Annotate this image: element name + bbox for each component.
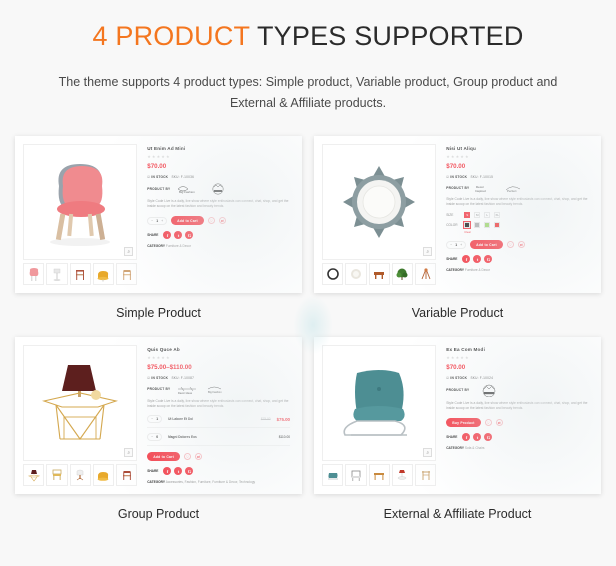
thumbnail-strip — [23, 263, 137, 285]
qty-value: 1 — [156, 219, 158, 223]
thumbnail-item[interactable] — [369, 263, 390, 285]
product-type-cell-external: ⌕ Ex Ea Com Modi ★★★★★ $70.00 ☑ — [314, 337, 601, 530]
brand-logo-icon: Big Fashion — [204, 384, 228, 395]
add-to-cart-row: − 1 + Add to Cart ♡ ⇄ — [147, 216, 290, 225]
googleplus-icon[interactable]: G — [484, 255, 492, 263]
rating-stars: ★★★★★ — [446, 355, 589, 360]
group-item-row: − 1 Ut Labore Et Dol $75.00 $75.00 — [147, 415, 290, 428]
product-name: Quis Quce Ab — [147, 347, 290, 352]
brand-logo-icon: Perfect — [503, 183, 527, 193]
sku-value: SKU: F-10036 — [171, 175, 194, 179]
brand-logo-icon: Big Fashion — [175, 183, 201, 194]
stock-label: IN STOCK — [151, 175, 168, 179]
clear-selection-link[interactable]: Clear — [464, 230, 589, 234]
wishlist-icon[interactable]: ♡ — [507, 241, 514, 248]
product-name: Ex Ea Com Modi — [446, 347, 589, 352]
product-type-cell-group: ⌕ Quis Quce Ab ★★★★★ $75.00–$110.00 — [15, 337, 302, 530]
product-price: $70.00 — [147, 163, 290, 170]
compare-icon[interactable]: ⇄ — [496, 419, 503, 426]
card-caption-variable: Variable Product — [412, 306, 504, 320]
rating-stars: ★★★★★ — [147, 355, 290, 360]
thumbnail-item[interactable] — [116, 464, 137, 486]
group-item-old-price: $75.00 — [261, 417, 271, 421]
screenshot-variable-product[interactable]: ⌕ Nisi Ut Aliqu ★★★★★ $70.00 ☑ — [314, 136, 601, 293]
add-to-cart-row: − 1 + Add to Cart ♡ ⇄ — [446, 240, 589, 249]
product-description: Style Code Live is a daily, live show wh… — [147, 199, 290, 211]
product-description: Style Code Live is a daily, live show wh… — [147, 399, 290, 411]
wishlist-icon[interactable]: ♡ — [184, 453, 191, 460]
twitter-icon[interactable]: t — [473, 433, 481, 441]
wishlist-icon[interactable]: ♡ — [485, 419, 492, 426]
category-label: CATEGORY — [446, 268, 464, 272]
qty-increase[interactable]: + — [161, 219, 163, 223]
category-label: CATEGORY — [147, 480, 165, 484]
facebook-icon[interactable]: f — [163, 231, 171, 239]
color-label: COLOR — [446, 223, 460, 227]
qty-value: 1 — [156, 417, 158, 421]
compare-icon[interactable]: ⇄ — [195, 453, 202, 460]
product-by-row: PRODUCT BY DecorInspired Perfect — [446, 183, 589, 193]
product-name: Nisi Ut Aliqu — [446, 146, 589, 151]
product-by-row: PRODUCT BY Big Fashion — [147, 183, 290, 195]
add-to-cart-button[interactable]: Add to Cart — [470, 240, 503, 249]
thumbnail-item[interactable] — [392, 464, 413, 486]
wishlist-icon[interactable]: ♡ — [208, 217, 215, 224]
qty-value: 0 — [156, 435, 158, 439]
share-row: SHARE f t G — [446, 255, 589, 263]
product-price: $70.00 — [446, 163, 589, 170]
category-label: CATEGORY — [446, 446, 464, 450]
category-row: CATEGORY Accessories, Fashion, Furniture… — [147, 480, 290, 484]
add-to-cart-button[interactable]: Add to Cart — [147, 452, 180, 461]
screenshot-simple-product[interactable]: ⌕ Ut Enim Ad Mini ★★★★★ $70.00 — [15, 136, 302, 293]
facebook-icon[interactable]: f — [163, 467, 171, 475]
share-row: SHARE f t G — [147, 467, 290, 475]
product-price: $70.00 — [446, 364, 589, 371]
qty-decrease[interactable]: − — [151, 435, 153, 439]
qty-decrease[interactable]: − — [151, 417, 153, 421]
color-swatch[interactable] — [494, 222, 500, 228]
product-description: Style Code Live is a daily, live show wh… — [446, 197, 589, 209]
stock-and-sku: ☑ IN STOCK SKU: F-10015 — [446, 175, 589, 179]
thumbnail-item[interactable] — [93, 464, 114, 486]
size-option[interactable]: XL — [494, 212, 500, 218]
thumbnail-item[interactable] — [392, 263, 413, 285]
rating-stars: ★★★★★ — [147, 154, 290, 159]
title-rest: TYPES SUPPORTED — [250, 21, 524, 51]
stock-label: IN STOCK — [450, 175, 467, 179]
add-to-cart-button[interactable]: Add to Cart — [171, 216, 204, 225]
product-info: Ut Enim Ad Mini ★★★★★ $70.00 ☑ IN STOCK … — [139, 142, 296, 287]
quantity-stepper[interactable]: − 1 + — [446, 241, 466, 249]
main-product-image[interactable]: ⌕ — [23, 144, 137, 260]
image-zoom-icon[interactable]: ⌕ — [423, 448, 432, 457]
twitter-icon[interactable]: t — [174, 467, 182, 475]
product-name: Ut Enim Ad Mini — [147, 146, 290, 151]
product-by-row: PRODUCT BY Decor Ideas Big Fashion — [147, 384, 290, 395]
color-swatch[interactable] — [484, 222, 490, 228]
svg-text:Perfect: Perfect — [507, 189, 517, 193]
product-description: Style Code Live is a daily, live show wh… — [446, 401, 589, 413]
thumbnail-item[interactable] — [70, 464, 91, 486]
svg-text:Big Fashion: Big Fashion — [208, 390, 222, 394]
qty-increase[interactable]: + — [460, 243, 462, 247]
thumbnail-item[interactable] — [70, 263, 91, 285]
product-info: Ex Ea Com Modi ★★★★★ $70.00 ☑ IN STOCK S… — [438, 343, 595, 488]
size-label: SIZE — [446, 213, 460, 217]
product-info: Quis Quce Ab ★★★★★ $75.00–$110.00 ☑ IN S… — [139, 343, 296, 488]
product-gallery: ⌕ — [21, 142, 139, 287]
product-by-row: PRODUCT BY — [446, 384, 589, 397]
group-item-price: $110.00 — [279, 435, 290, 439]
category-row: CATEGORY Sofa & Chairs — [446, 446, 589, 450]
thumbnail-item[interactable] — [116, 263, 137, 285]
sku-value: SKU: F-10024 — [470, 376, 493, 380]
card-caption-group: Group Product — [118, 507, 199, 521]
size-selector-row: SIZE S M L XL — [446, 212, 589, 218]
thumbnail-item[interactable] — [369, 464, 390, 486]
product-gallery: ⌕ — [320, 142, 438, 287]
thumbnail-item[interactable] — [345, 464, 366, 486]
thumbnail-strip — [322, 263, 436, 285]
screenshot-external-product[interactable]: ⌕ Ex Ea Com Modi ★★★★★ $70.00 ☑ — [314, 337, 601, 494]
image-zoom-icon[interactable]: ⌕ — [124, 448, 133, 457]
twitter-icon[interactable]: t — [473, 255, 481, 263]
brand-logo-icon: DecorInspired — [474, 183, 498, 193]
googleplus-icon[interactable]: G — [185, 467, 193, 475]
quantity-stepper[interactable]: − 1 + — [147, 217, 167, 225]
stock-and-sku: ☑ IN STOCK SKU: F-10087 — [147, 376, 290, 380]
thumbnail-strip — [322, 464, 436, 486]
buy-product-button[interactable]: Buy Product — [446, 418, 480, 427]
sku-value: SKU: F-10015 — [470, 175, 493, 179]
share-row: SHARE f t G — [147, 231, 290, 239]
product-type-grid: ⌕ Ut Enim Ad Mini ★★★★★ $70.00 — [0, 136, 616, 530]
brand-logo-icon: Decor Ideas — [175, 384, 199, 395]
facebook-icon[interactable]: f — [462, 433, 470, 441]
qty-decrease[interactable]: − — [151, 219, 153, 223]
product-types-section: 4 PRODUCT TYPES SUPPORTED The theme supp… — [0, 0, 616, 566]
group-quantity-stepper[interactable]: − 0 — [147, 433, 162, 441]
stock-label: IN STOCK — [450, 376, 467, 380]
thumbnail-item[interactable] — [46, 464, 67, 486]
product-price-range: $75.00–$110.00 — [147, 364, 290, 371]
compare-icon[interactable]: ⇄ — [518, 241, 525, 248]
color-swatch[interactable] — [464, 222, 470, 228]
main-product-image[interactable]: ⌕ — [322, 345, 436, 461]
twitter-icon[interactable]: t — [174, 231, 182, 239]
size-option[interactable]: M — [474, 212, 480, 218]
product-by-label: PRODUCT BY — [446, 186, 469, 190]
qty-value: 1 — [455, 243, 457, 247]
sku-value: SKU: F-10087 — [171, 376, 194, 380]
share-label: SHARE — [446, 435, 457, 439]
googleplus-icon[interactable]: G — [185, 231, 193, 239]
section-header: 4 PRODUCT TYPES SUPPORTED The theme supp… — [0, 0, 616, 114]
svg-text:Big Fashion: Big Fashion — [179, 190, 195, 194]
screenshot-group-product[interactable]: ⌕ Quis Quce Ab ★★★★★ $75.00–$110.00 — [15, 337, 302, 494]
rating-stars: ★★★★★ — [446, 154, 589, 159]
product-type-cell-variable: ⌕ Nisi Ut Aliqu ★★★★★ $70.00 ☑ — [314, 136, 601, 329]
category-row: CATEGORY Furniture & Decor — [446, 268, 589, 272]
product-gallery: ⌕ — [320, 343, 438, 488]
product-by-label: PRODUCT BY — [147, 387, 170, 391]
googleplus-icon[interactable]: G — [484, 433, 492, 441]
section-subtitle: The theme supports 4 product types: Simp… — [0, 72, 616, 115]
group-item-row: − 0 Magni Dolores Eos $110.00 — [147, 433, 290, 446]
title-highlight: 4 PRODUCT — [92, 21, 249, 51]
size-option[interactable]: S — [464, 212, 470, 218]
thumbnail-item[interactable] — [23, 263, 44, 285]
group-item-price: $75.00 — [277, 417, 290, 422]
image-zoom-icon[interactable]: ⌕ — [124, 247, 133, 256]
stock-and-sku: ☑ IN STOCK SKU: F-10036 — [147, 175, 290, 179]
thumbnail-item[interactable] — [322, 464, 343, 486]
main-product-image[interactable]: ⌕ — [23, 345, 137, 461]
stock-label: IN STOCK — [151, 376, 168, 380]
brand-logo-icon — [474, 384, 504, 397]
product-info: Nisi Ut Aliqu ★★★★★ $70.00 ☑ IN STOCK SK… — [438, 142, 595, 287]
card-caption-external: External & Affiliate Product — [384, 507, 532, 521]
product-type-cell-simple: ⌕ Ut Enim Ad Mini ★★★★★ $70.00 — [15, 136, 302, 329]
svg-text:Decor Ideas: Decor Ideas — [178, 391, 193, 395]
color-selector-row: COLOR — [446, 222, 589, 228]
share-label: SHARE — [147, 233, 158, 237]
image-zoom-icon[interactable]: ⌕ — [423, 247, 432, 256]
add-to-cart-row: Add to Cart ♡ ⇄ — [147, 452, 290, 461]
category-value[interactable]: Furniture & Decor — [465, 268, 490, 272]
thumbnail-item[interactable] — [23, 464, 44, 486]
thumbnail-strip — [23, 464, 137, 486]
product-by-label: PRODUCT BY — [147, 187, 170, 191]
thumbnail-item[interactable] — [46, 263, 67, 285]
category-value[interactable]: Furniture & Decor — [166, 244, 191, 248]
category-row: CATEGORY Furniture & Decor — [147, 244, 290, 248]
share-row: SHARE f t G — [446, 433, 589, 441]
thumbnail-item[interactable] — [415, 464, 436, 486]
category-value[interactable]: Accessories, Fashion, Furniture, Furnitu… — [166, 480, 255, 484]
buy-product-row: Buy Product ♡ ⇄ — [446, 418, 589, 427]
compare-icon[interactable]: ⇄ — [219, 217, 226, 224]
thumbnail-item[interactable] — [322, 263, 343, 285]
qty-decrease[interactable]: − — [450, 243, 452, 247]
main-product-image[interactable]: ⌕ — [322, 144, 436, 260]
card-caption-simple: Simple Product — [116, 306, 201, 320]
svg-text:Inspired: Inspired — [475, 189, 486, 193]
share-label: SHARE — [147, 469, 158, 473]
thumbnail-item[interactable] — [345, 263, 366, 285]
color-swatch[interactable] — [474, 222, 480, 228]
thumbnail-item[interactable] — [415, 263, 436, 285]
product-gallery: ⌕ — [21, 343, 139, 488]
stock-and-sku: ☑ IN STOCK SKU: F-10024 — [446, 376, 589, 380]
category-label: CATEGORY — [147, 244, 165, 248]
thumbnail-item[interactable] — [93, 263, 114, 285]
size-option[interactable]: L — [484, 212, 490, 218]
page-title: 4 PRODUCT TYPES SUPPORTED — [0, 22, 616, 52]
group-item-name[interactable]: Magni Dolores Eos — [168, 435, 267, 439]
facebook-icon[interactable]: f — [462, 255, 470, 263]
category-value[interactable]: Sofa & Chairs — [465, 446, 485, 450]
group-item-name[interactable]: Ut Labore Et Dol — [168, 417, 255, 421]
share-label: SHARE — [446, 257, 457, 261]
group-quantity-stepper[interactable]: − 1 — [147, 415, 162, 423]
product-by-label: PRODUCT BY — [446, 388, 469, 392]
brand-logo-icon — [206, 183, 230, 195]
